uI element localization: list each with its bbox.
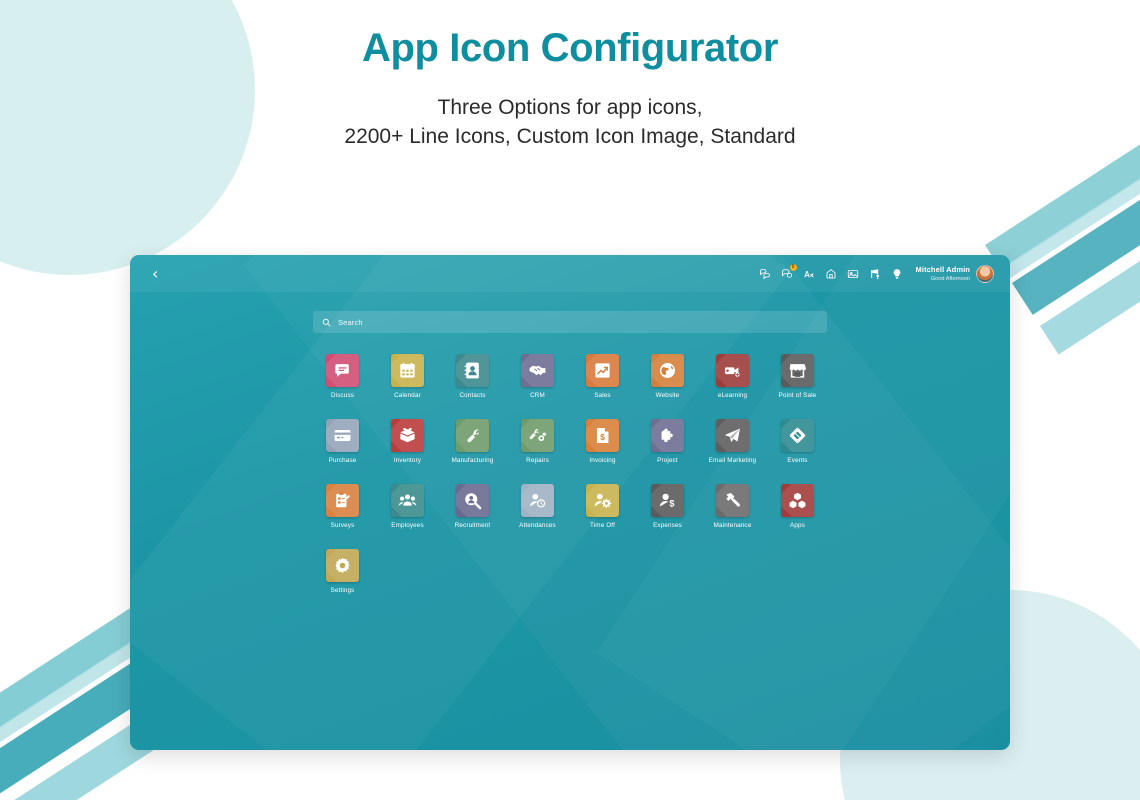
company-icon[interactable] [825,267,838,280]
storefront-icon[interactable] [781,354,814,387]
app-icon-maintenance[interactable]: Maintenance [700,484,765,529]
chart-up-icon[interactable] [586,354,619,387]
app-icon-repairs[interactable]: Repairs [505,419,570,464]
ticket-icon[interactable] [781,419,814,452]
app-icon-attendances[interactable]: Attendances [505,484,570,529]
credit-card-icon[interactable] [326,419,359,452]
app-label: Discuss [331,392,354,399]
app-icon-website[interactable]: Website [635,354,700,399]
app-label: Repairs [526,457,549,464]
lightbulb-icon[interactable] [891,267,904,280]
system-icon-tray: 9 [759,267,904,280]
gear-icon[interactable] [326,549,359,582]
gallery-icon[interactable] [847,267,860,280]
app-label: Invoicing [589,457,615,464]
app-icon-crm[interactable]: CRM [505,354,570,399]
notification-badge: 9 [790,264,797,271]
translate-icon[interactable] [803,267,816,280]
clipboard-pen-icon[interactable] [326,484,359,517]
page-subtitle-line-2: 2200+ Line Icons, Custom Icon Image, Sta… [0,122,1140,151]
person-dollar-icon[interactable]: $ [651,484,684,517]
person-gear-icon[interactable] [586,484,619,517]
magnifier-person-icon[interactable] [456,484,489,517]
svg-text:$: $ [669,499,674,509]
app-icon-invoicing[interactable]: $Invoicing [570,419,635,464]
app-icon-point-of-sale[interactable]: Point of Sale [765,354,830,399]
app-label: Website [656,392,680,399]
app-label: Expenses [653,522,682,529]
app-label: Employees [391,522,424,529]
app-label: Contacts [459,392,485,399]
app-icon-contacts[interactable]: Contacts [440,354,505,399]
person-clock-icon[interactable] [521,484,554,517]
app-icon-expenses[interactable]: $Expenses [635,484,700,529]
app-icon-surveys[interactable]: Surveys [310,484,375,529]
app-icon-time-off[interactable]: Time Off [570,484,635,529]
app-label: Events [787,457,807,464]
avatar[interactable] [976,265,994,283]
headline-block: App Icon Configurator Three Options for … [0,26,1140,151]
page-title: App Icon Configurator [0,26,1140,71]
app-icon-project[interactable]: Project [635,419,700,464]
app-icon-employees[interactable]: Employees [375,484,440,529]
megaphone-icon[interactable] [869,267,882,280]
app-window: ‹ 9 Mitchell Admin Good Afternoon Search… [130,255,1010,750]
app-label: Sales [594,392,611,399]
people-group-icon[interactable] [391,484,424,517]
user-name: Mitchell Admin [916,265,970,275]
app-icon-sales[interactable]: Sales [570,354,635,399]
window-topbar: ‹ 9 Mitchell Admin Good Afternoon [130,255,1010,292]
app-label: Attendances [519,522,556,529]
app-icon-inventory[interactable]: Inventory [375,419,440,464]
app-label: Time Off [590,522,615,529]
wrench-icon[interactable] [456,419,489,452]
activities-icon[interactable]: 9 [781,267,794,280]
app-label: Calendar [394,392,421,399]
messages-icon[interactable] [759,267,772,280]
app-label: Inventory [394,457,421,464]
cubes-icon[interactable] [781,484,814,517]
page-subtitle: Three Options for app icons, 2200+ Line … [0,93,1140,151]
app-label: Point of Sale [779,392,817,399]
svg-text:$: $ [600,432,605,442]
app-icon-email-marketing[interactable]: Email Marketing [700,419,765,464]
app-icon-settings[interactable]: Settings [310,549,375,594]
search-placeholder: Search [338,318,363,327]
projector-icon[interactable] [716,354,749,387]
chevron-left-icon[interactable]: ‹ [152,266,158,282]
app-label: Email Marketing [709,457,756,464]
app-label: CRM [530,392,545,399]
app-icon-apps[interactable]: Apps [765,484,830,529]
app-label: Apps [790,522,805,529]
wrench-gear-icon[interactable] [521,419,554,452]
app-label: Manufacturing [452,457,494,464]
app-label: Project [657,457,678,464]
app-icon-calendar[interactable]: Calendar [375,354,440,399]
calendar-icon[interactable] [391,354,424,387]
app-icon-manufacturing[interactable]: Manufacturing [440,419,505,464]
app-label: Recruitment [455,522,491,529]
handshake-icon[interactable] [521,354,554,387]
app-label: Settings [331,587,355,594]
app-label: Purchase [329,457,357,464]
app-icon-elearning[interactable]: eLearning [700,354,765,399]
open-box-icon[interactable] [391,419,424,452]
app-icon-purchase[interactable]: Purchase [310,419,375,464]
app-label: Maintenance [714,522,752,529]
app-icon-recruitment[interactable]: Recruitment [440,484,505,529]
search-input[interactable]: Search [313,311,827,333]
app-grid: DiscussCalendarContactsCRMSalesWebsiteeL… [310,354,830,594]
invoice-dollar-icon[interactable]: $ [586,419,619,452]
hammer-icon[interactable] [716,484,749,517]
app-icon-discuss[interactable]: Discuss [310,354,375,399]
search-icon [322,318,331,327]
chat-bubble-icon[interactable] [326,354,359,387]
app-icon-events[interactable]: Events [765,419,830,464]
user-text: Mitchell Admin Good Afternoon [916,265,970,283]
paper-plane-icon[interactable] [716,419,749,452]
app-label: Surveys [331,522,355,529]
puzzle-icon[interactable] [651,419,684,452]
page-root: App Icon Configurator Three Options for … [0,0,1140,800]
app-label: eLearning [718,392,747,399]
user-greeting: Good Afternoon [916,275,970,283]
contact-card-icon[interactable] [456,354,489,387]
globe-icon[interactable] [651,354,684,387]
user-menu[interactable]: Mitchell Admin Good Afternoon [916,265,994,283]
page-subtitle-line-1: Three Options for app icons, [0,93,1140,122]
